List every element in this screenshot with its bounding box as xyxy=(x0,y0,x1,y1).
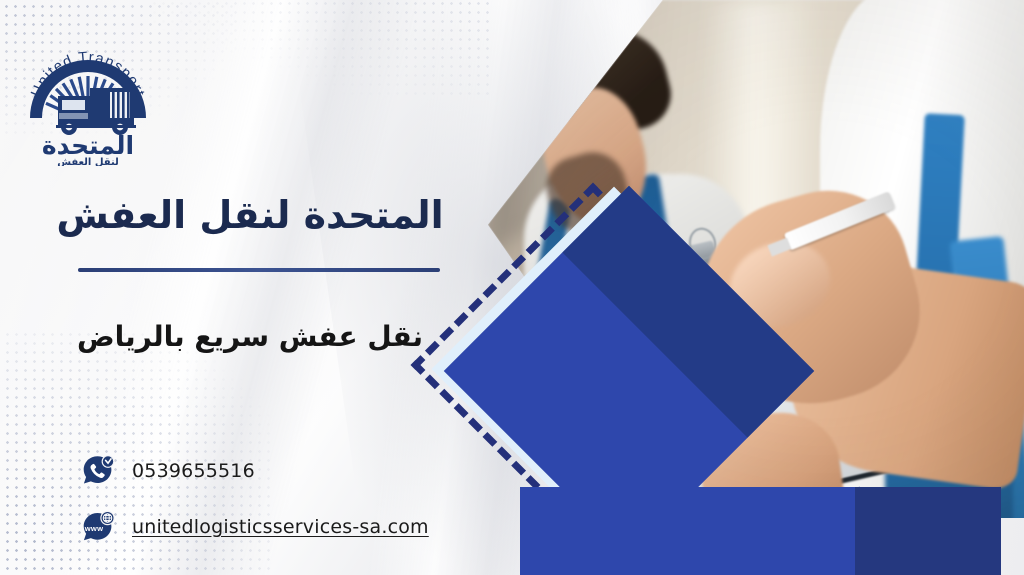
contact-row-website[interactable]: www unitedlogisticsservices-sa.com xyxy=(80,508,480,546)
phone-call-icon xyxy=(80,453,116,489)
page-subtitle: نقل عفش سريع بالرياض xyxy=(0,320,500,354)
contact-list: 0539655516 www united xyxy=(80,452,480,564)
banner-canvas: United Transport xyxy=(0,0,1024,575)
company-logo[interactable]: United Transport xyxy=(22,26,154,166)
logo-arabic-sub: لنقل العفش xyxy=(57,157,119,166)
bottom-navy-block xyxy=(855,487,1001,575)
svg-text:www: www xyxy=(84,524,104,533)
contact-row-phone[interactable]: 0539655516 xyxy=(80,452,480,490)
title-divider xyxy=(78,268,440,272)
bottom-blue-block xyxy=(520,487,860,575)
halftone-dots-top-right xyxy=(150,0,490,100)
phone-number-text: 0539655516 xyxy=(132,460,255,482)
website-url-text[interactable]: unitedlogisticsservices-sa.com xyxy=(132,516,429,538)
page-title: المتحدة لنقل العفش xyxy=(0,194,500,238)
truck-icon xyxy=(56,88,136,135)
logo-arabic-main: المتحدة xyxy=(42,131,134,160)
www-globe-icon: www xyxy=(80,509,116,545)
